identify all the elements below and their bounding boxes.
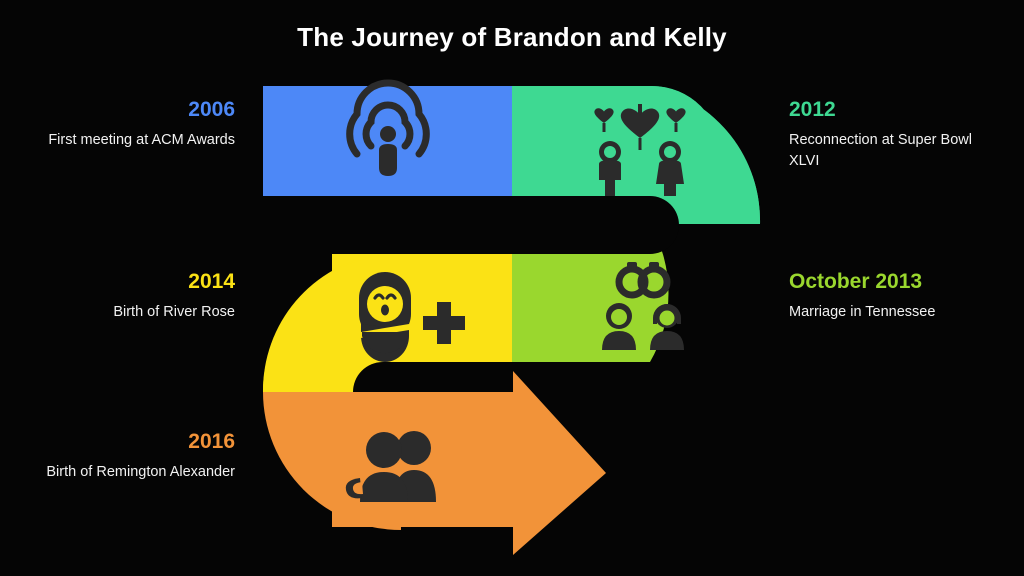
milestone-desc-2016: Birth of Remington Alexander: [30, 462, 235, 483]
milestone-label-2012: 2012 Reconnection at Super Bowl XLVI: [789, 98, 1004, 172]
milestone-label-2006: 2006 First meeting at ACM Awards: [30, 98, 235, 151]
milestone-year-2016: 2016: [30, 430, 235, 453]
milestone-label-2016: 2016 Birth of Remington Alexander: [30, 430, 235, 483]
infographic-canvas: The Journey of Brandon and Kelly: [0, 0, 1024, 576]
milestone-label-2014: 2014 Birth of River Rose: [30, 270, 235, 323]
uturn-inner-notch: [383, 196, 679, 254]
milestone-label-2013: October 2013 Marriage in Tennessee: [789, 270, 1004, 323]
milestone-desc-2013: Marriage in Tennessee: [789, 302, 1004, 323]
milestone-year-2013: October 2013: [789, 270, 1004, 293]
milestone-year-2012: 2012: [789, 98, 1004, 121]
milestone-desc-2014: Birth of River Rose: [30, 302, 235, 323]
milestone-desc-2006: First meeting at ACM Awards: [30, 130, 235, 151]
milestone-desc-2012: Reconnection at Super Bowl XLVI: [789, 130, 1004, 172]
milestone-year-2006: 2006: [30, 98, 235, 121]
milestone-year-2014: 2014: [30, 270, 235, 293]
